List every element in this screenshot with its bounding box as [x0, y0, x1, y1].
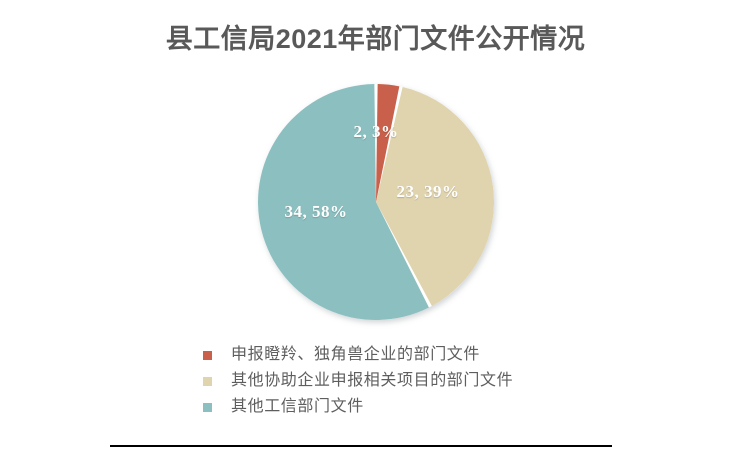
legend-label-2: 其他工信部门文件 — [231, 394, 364, 420]
bottom-divider — [110, 445, 612, 447]
legend-swatch-icon-2 — [203, 403, 212, 412]
legend-item-1[interactable]: 其他协助企业申报相关项目的部门文件 — [198, 368, 598, 394]
legend-label-1: 其他协助企业申报相关项目的部门文件 — [231, 368, 513, 394]
chart-title: 县工信局2021年部门文件公开情况 — [0, 22, 751, 56]
pie-slice-label-0: 2, 3% — [354, 122, 399, 142]
legend-item-0[interactable]: 申报瞪羚、独角兽企业的部门文件 — [198, 342, 598, 368]
legend-swatch-icon-0 — [203, 351, 212, 360]
legend-label-0: 申报瞪羚、独角兽企业的部门文件 — [231, 342, 480, 368]
legend-swatch-icon-1 — [203, 377, 212, 386]
pie-slice-label-2: 34, 58% — [285, 202, 348, 222]
pie-chart-figure: 县工信局2021年部门文件公开情况 2, 3% 23, 39% 34, 58% … — [0, 0, 751, 451]
pie-plot-area: 2, 3% 23, 39% 34, 58% — [248, 74, 504, 330]
chart-legend: 申报瞪羚、独角兽企业的部门文件 其他协助企业申报相关项目的部门文件 其他工信部门… — [198, 342, 598, 420]
legend-item-2[interactable]: 其他工信部门文件 — [198, 394, 598, 420]
pie-slice-label-1: 23, 39% — [397, 182, 460, 202]
